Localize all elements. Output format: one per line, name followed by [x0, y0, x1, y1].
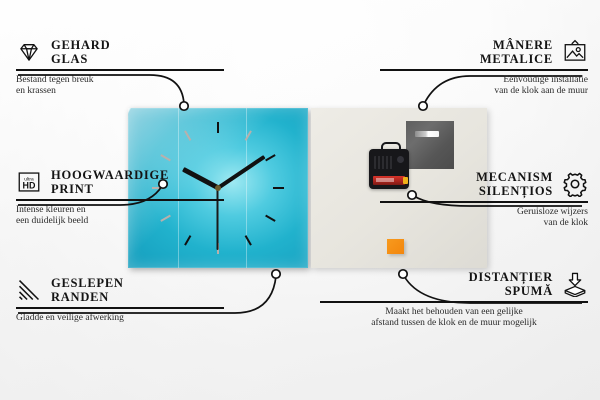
infographic-canvas: GEHARD GLAS Bestand tegen breuk en krass…: [0, 0, 600, 400]
beveled-edges-icon: [16, 277, 42, 303]
feature-description-line1: Intense kleuren en: [16, 205, 224, 217]
connector-endpoint-geslepen-randen: [272, 270, 280, 278]
time-set-knob: [397, 156, 404, 163]
feature-description-line1: Geruisloze wijzers: [380, 207, 588, 219]
feature-title: MÂNERE METALICE: [480, 38, 553, 66]
feature-mecanism-silentios: MECANISM SILENȚIOS Geruisloze wijzers va…: [380, 170, 588, 230]
feature-gehard-glas: GEHARD GLAS Bestand tegen breuk en krass…: [16, 38, 224, 98]
feature-description-line2: een duidelijk beeld: [16, 216, 224, 228]
feature-title: GEHARD GLAS: [51, 38, 110, 66]
feature-divider: [16, 199, 224, 201]
feature-hoogwaardige-print: ultra HD HOOGWAARDIGE PRINT Intense kleu…: [16, 168, 224, 228]
ultra-hd-icon: ultra HD: [16, 169, 42, 195]
feature-heading: GESLEPEN RANDEN: [16, 276, 224, 304]
metal-hanger-plate: [406, 121, 454, 169]
diamond-icon: [16, 39, 42, 65]
feature-description-line1: Gladde en veilige afwerking: [16, 313, 224, 325]
feature-description-line2: en krassen: [16, 86, 224, 98]
feature-heading: DISTANȚIER SPUMĂ: [380, 270, 588, 298]
feature-description-line2: van de klok: [380, 218, 588, 230]
feature-heading: ultra HD HOOGWAARDIGE PRINT: [16, 168, 224, 196]
clock-minute-hand: [217, 155, 266, 190]
feature-heading: GEHARD GLAS: [16, 38, 224, 66]
feature-description-line1: Eenvoudige installatie: [380, 75, 588, 87]
feature-divider: [380, 69, 588, 71]
ultra-hd-icon-large-label: HD: [23, 181, 36, 191]
hanger-loop: [381, 142, 401, 153]
feature-title: DISTANȚIER SPUMĂ: [469, 270, 553, 298]
feature-divider: [320, 301, 588, 303]
feature-manere-metalice: MÂNERE METALICE Eenvoudige installatie v…: [380, 38, 588, 98]
feature-description-line1: Maakt het behouden van een gelijke: [320, 307, 588, 319]
feature-geslepen-randen: GESLEPEN RANDEN Gladde en veilige afwerk…: [16, 276, 224, 324]
feature-divider: [16, 69, 224, 71]
feature-divider: [16, 307, 224, 309]
picture-hanger-icon: [562, 39, 588, 65]
gear-icon: [562, 171, 588, 197]
foam-spacer-icon: [562, 271, 588, 297]
feature-heading: MECANISM SILENȚIOS: [380, 170, 588, 198]
feature-description-line2: van de klok aan de muur: [380, 86, 588, 98]
feature-distantier-spuma: DISTANȚIER SPUMĂ Maakt het behouden van …: [380, 270, 588, 330]
feature-title: MECANISM SILENȚIOS: [476, 170, 553, 198]
feature-description-line2: afstand tussen de klok en de muur mogeli…: [320, 318, 588, 330]
mechanism-vents: [374, 156, 394, 169]
feature-title: HOOGWAARDIGE PRINT: [51, 168, 169, 196]
feature-title: GESLEPEN RANDEN: [51, 276, 124, 304]
clock-tick: [218, 187, 284, 189]
feature-description-line1: Bestand tegen breuk: [16, 75, 224, 87]
feature-heading: MÂNERE METALICE: [380, 38, 588, 66]
feature-divider: [380, 201, 588, 203]
orange-foam-spacer: [387, 239, 404, 254]
hanger-slot: [415, 131, 439, 137]
